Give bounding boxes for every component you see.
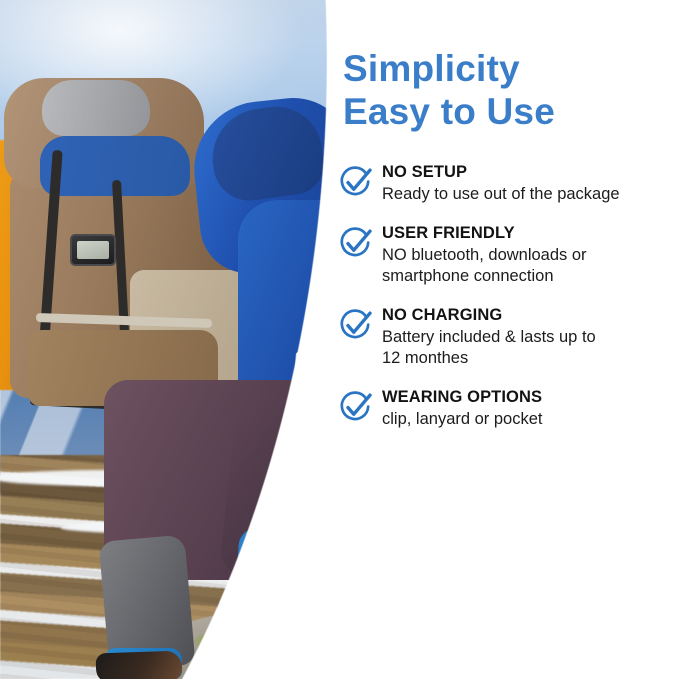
product-feature-poster: Simplicity Easy to Use NO SETUP Ready to… xyxy=(0,0,679,679)
feature-list: NO SETUP Ready to use out of the package… xyxy=(338,160,679,445)
feature-title: NO CHARGING xyxy=(382,306,502,324)
check-circle-icon xyxy=(338,165,372,199)
feature-title: WEARING OPTIONS xyxy=(382,388,542,406)
feature-text: NO SETUP Ready to use out of the package xyxy=(382,160,679,206)
text-panel: Simplicity Easy to Use NO SETUP Ready to… xyxy=(330,0,679,679)
check-circle-icon xyxy=(338,226,372,260)
feature-text: NO CHARGING Battery included & lasts up … xyxy=(382,303,679,370)
feature-body: NO bluetooth, downloads or smartphone co… xyxy=(382,245,679,288)
pole-lock-clip xyxy=(300,440,315,460)
feature-text: WEARING OPTIONS clip, lanyard or pocket xyxy=(382,385,679,431)
feature-title: NO SETUP xyxy=(382,163,467,181)
feature-title: USER FRIENDLY xyxy=(382,224,515,242)
feature-item-wearing-options: WEARING OPTIONS clip, lanyard or pocket xyxy=(338,385,679,431)
backpack-grey-pocket xyxy=(42,80,150,136)
feature-item-no-charging: NO CHARGING Battery included & lasts up … xyxy=(338,303,679,370)
feature-item-user-friendly: USER FRIENDLY NO bluetooth, downloads or… xyxy=(338,221,679,288)
device-screen xyxy=(77,241,109,259)
feature-body: Ready to use out of the package xyxy=(382,184,679,206)
check-circle-icon xyxy=(338,390,372,424)
feature-text: USER FRIENDLY NO bluetooth, downloads or… xyxy=(382,221,679,288)
clip-on-device xyxy=(70,234,116,266)
check-circle-icon xyxy=(338,308,372,342)
left-boot xyxy=(96,651,183,679)
feature-body: clip, lanyard or pocket xyxy=(382,409,679,431)
right-boot xyxy=(217,593,312,645)
page-title: Simplicity Easy to Use xyxy=(343,47,555,133)
feature-item-no-setup: NO SETUP Ready to use out of the package xyxy=(338,160,679,206)
pole-lock-clip xyxy=(310,584,325,604)
feature-body: Battery included & lasts up to 12 monthe… xyxy=(382,327,679,370)
